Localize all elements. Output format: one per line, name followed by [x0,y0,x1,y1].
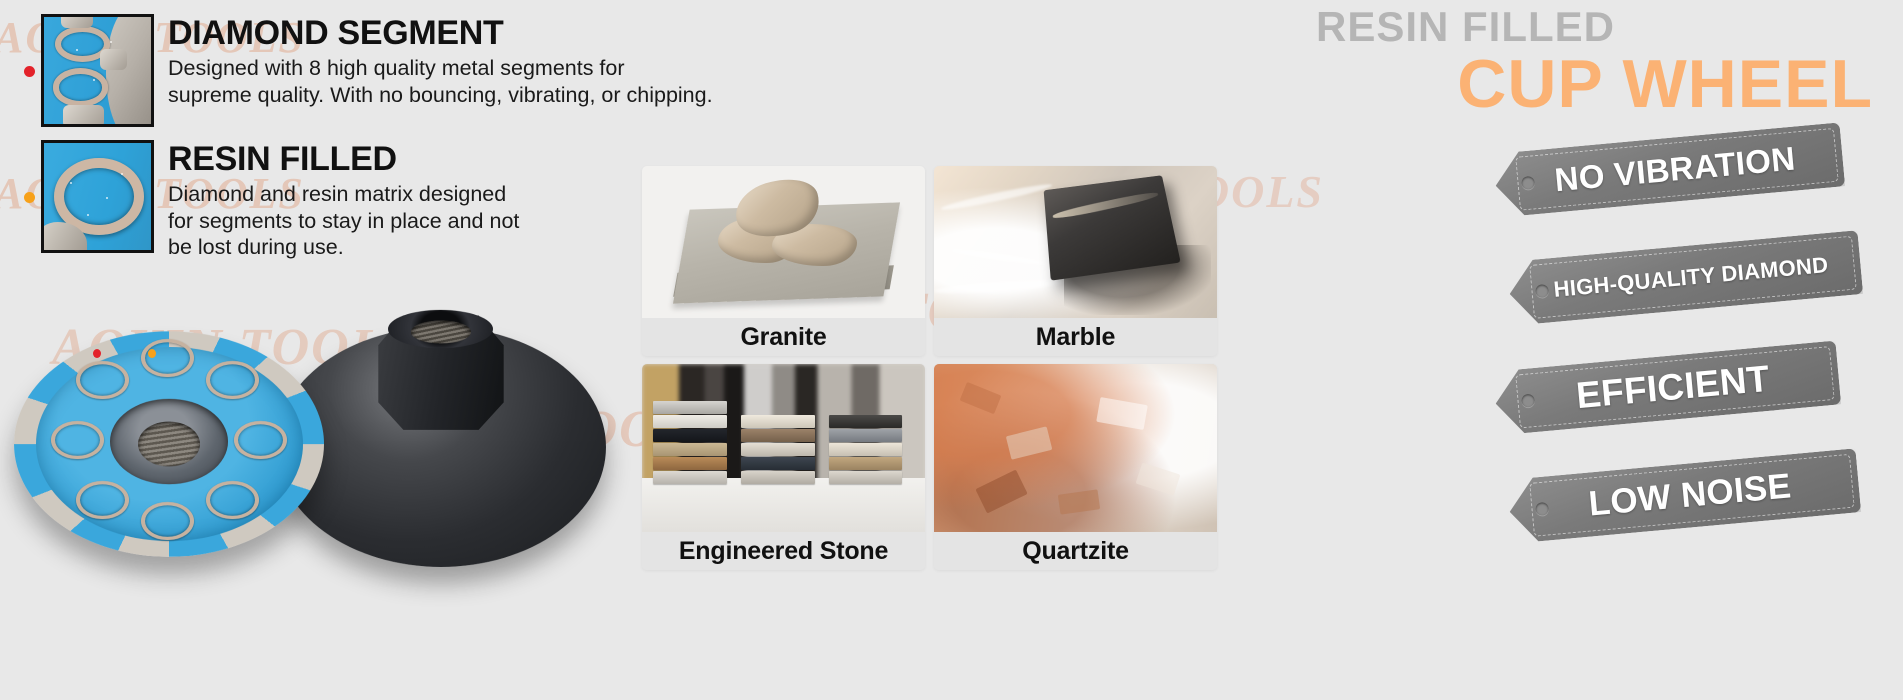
material-label: Quartzite [934,532,1217,570]
red-bullet-icon [93,349,101,358]
material-card-marble[interactable]: Marble [934,166,1217,356]
benefit-tag-no-vibration[interactable]: NO VIBRATION [1493,122,1845,217]
material-card-quartzite[interactable]: Quartzite [934,364,1217,570]
feature-title: DIAMOND SEGMENT [168,16,713,52]
hex-nut [378,315,503,429]
benefit-tag-efficient[interactable]: EFFICIENT [1493,341,1841,436]
granite-slab-photo [642,166,925,318]
benefit-tag-list: NO VIBRATION HIGH-QUALITY DIAMOND EFFICI… [1495,138,1895,578]
benefit-tag-label: EFFICIENT [1494,351,1840,424]
red-bullet-icon [24,66,35,77]
orange-bullet-icon [24,192,35,203]
diamond-segment-closeup [41,14,154,127]
resin-filled-cup-wheel-face [14,308,324,580]
quartzite-surface-photo [934,364,1217,532]
material-card-engineered-stone[interactable]: Engineered Stone [642,364,925,570]
benefit-tag-label: NO VIBRATION [1494,135,1844,204]
material-label: Granite [642,318,925,356]
benefit-tag-label: LOW NOISE [1508,460,1860,532]
feature-title: RESIN FILLED [168,142,519,178]
benefit-tag-low-noise[interactable]: LOW NOISE [1507,448,1861,543]
product-hero-image [8,298,648,598]
cup-wheel-back-with-nut [276,304,606,590]
promo-banner: AOYIN TOOLS AOYIN TOOLS AOYIN TOOLS AOYI… [0,0,1903,700]
material-card-granite[interactable]: Granite [642,166,925,356]
benefit-tag-label: HIGH-QUALITY DIAMOND [1509,249,1862,307]
orange-bullet-icon [148,349,156,358]
material-label: Marble [934,318,1217,356]
headline-line2: CUP WHEEL [1316,50,1873,118]
marble-block-photo [934,166,1217,318]
material-label: Engineered Stone [642,532,925,570]
headline-line1: RESIN FILLED [1316,6,1873,48]
feature-body: Diamond and resin matrix designed for se… [168,181,519,262]
feature-diamond-segment: DIAMOND SEGMENT Designed with 8 high qua… [24,14,713,127]
engineered-stone-samples-photo [642,364,925,532]
benefit-tag-high-quality-diamond[interactable]: HIGH-QUALITY DIAMOND [1507,230,1863,326]
feature-body: Designed with 8 high quality metal segme… [168,55,713,109]
resin-filled-closeup [41,140,154,253]
headline: RESIN FILLED CUP WHEEL [1316,6,1873,118]
feature-resin-filled: RESIN FILLED Diamond and resin matrix de… [24,140,519,261]
